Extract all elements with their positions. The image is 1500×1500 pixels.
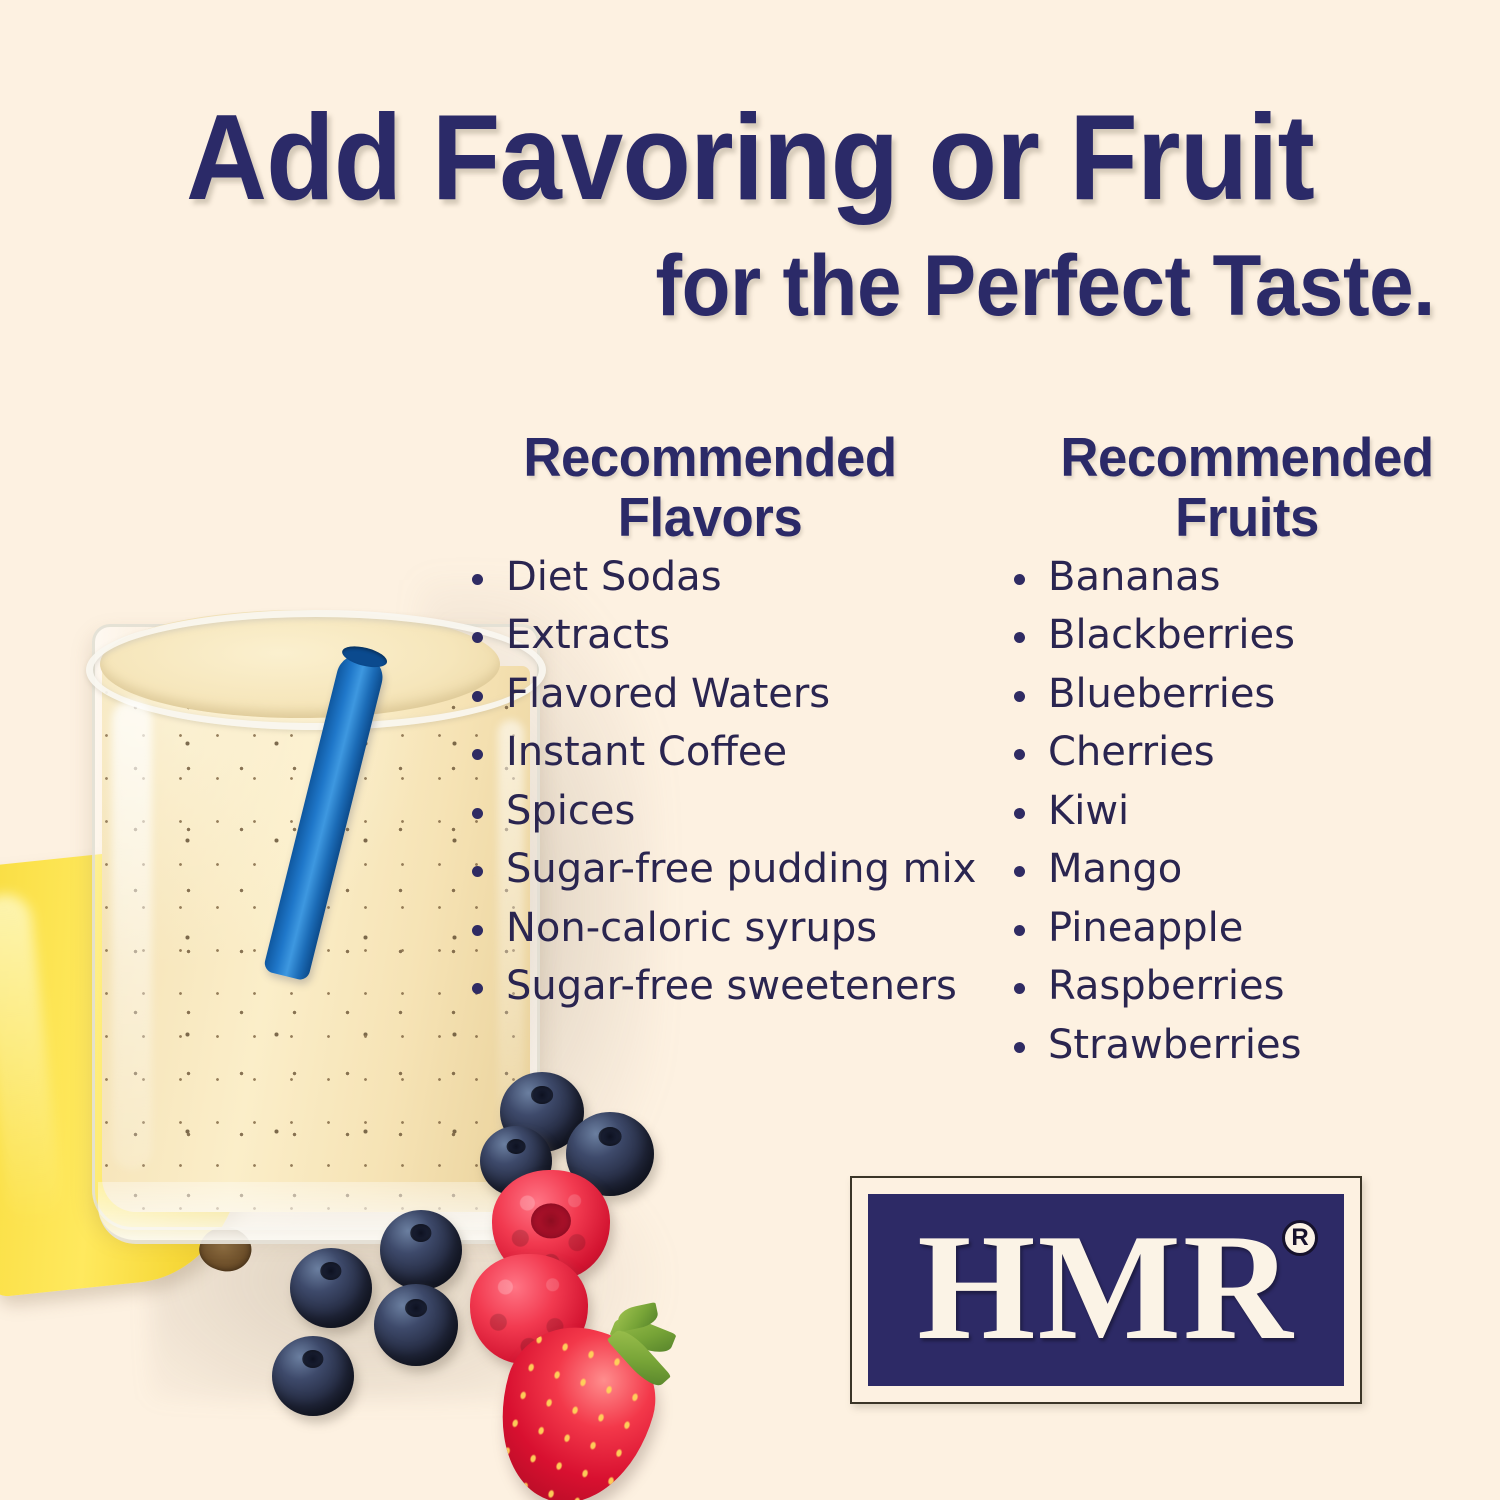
registered-trademark-icon: R bbox=[1282, 1220, 1318, 1256]
list-item: Flavored Waters bbox=[470, 665, 950, 724]
list-item-label: Mango bbox=[1048, 846, 1182, 892]
page-title-line1: Add Favoring or Fruit bbox=[60, 96, 1440, 218]
flavors-list: Diet Sodas Extracts Flavored Waters Inst… bbox=[470, 548, 950, 1016]
hmr-logo-text: HMR bbox=[868, 1211, 1344, 1363]
list-item: Spices bbox=[470, 782, 950, 841]
recommended-flavors-heading: Recommended Flavors bbox=[480, 428, 941, 548]
hmr-logo-plate: HMR R bbox=[868, 1194, 1344, 1386]
blueberry-image bbox=[374, 1284, 458, 1366]
bullet-icon bbox=[472, 808, 483, 819]
list-item: Mango bbox=[1012, 840, 1482, 899]
list-item: Bananas bbox=[1012, 548, 1482, 607]
poster-canvas: Add Favoring or Fruit for the Perfect Ta… bbox=[0, 0, 1500, 1500]
list-item-label: Flavored Waters bbox=[506, 671, 830, 717]
list-item-label: Raspberries bbox=[1048, 963, 1284, 1009]
list-item: Extracts bbox=[470, 606, 950, 665]
glass-highlight-left bbox=[112, 700, 152, 1170]
list-item-label: Bananas bbox=[1048, 554, 1221, 600]
list-item: Sugar-free sweeteners bbox=[470, 957, 950, 1016]
bullet-icon bbox=[472, 749, 483, 760]
bullet-icon bbox=[1014, 574, 1025, 585]
blueberry-crown bbox=[531, 1086, 553, 1104]
list-item-label: Diet Sodas bbox=[506, 554, 722, 600]
list-item: Non-caloric syrups bbox=[470, 899, 950, 958]
bullet-icon bbox=[472, 925, 483, 936]
recommended-flavors-column: Recommended Flavors Diet Sodas Extracts … bbox=[470, 428, 950, 1016]
bullet-icon bbox=[472, 983, 483, 994]
blueberry-crown bbox=[599, 1127, 622, 1145]
bullet-icon bbox=[472, 866, 483, 877]
list-item-label: Strawberries bbox=[1048, 1022, 1302, 1068]
bullet-icon bbox=[1014, 808, 1025, 819]
list-item-label: Sugar-free pudding mix bbox=[506, 846, 976, 892]
hmr-logo: HMR R bbox=[850, 1176, 1362, 1404]
bullet-icon bbox=[1014, 866, 1025, 877]
list-item: Instant Coffee bbox=[470, 723, 950, 782]
list-item: Raspberries bbox=[1012, 957, 1482, 1016]
list-item-label: Spices bbox=[506, 788, 635, 834]
raspberry-core bbox=[531, 1203, 571, 1238]
recommended-fruits-column: Recommended Fruits Bananas Blackberries … bbox=[1012, 428, 1482, 1074]
fruits-list: Bananas Blackberries Blueberries Cherrie… bbox=[1012, 548, 1482, 1075]
blueberry-image bbox=[380, 1210, 462, 1290]
list-item-label: Extracts bbox=[506, 612, 670, 658]
bullet-icon bbox=[1014, 925, 1025, 936]
blueberry-image bbox=[272, 1336, 354, 1416]
list-item-label: Cherries bbox=[1048, 729, 1215, 775]
recommended-fruits-heading: Recommended Fruits bbox=[1021, 428, 1472, 548]
list-item: Cherries bbox=[1012, 723, 1482, 782]
bullet-icon bbox=[1014, 1042, 1025, 1053]
list-item-label: Blackberries bbox=[1048, 612, 1295, 658]
list-item-label: Sugar-free sweeteners bbox=[506, 963, 957, 1009]
banana-highlight bbox=[0, 892, 63, 1226]
bullet-icon bbox=[472, 691, 483, 702]
list-item: Strawberries bbox=[1012, 1016, 1482, 1075]
blueberry-crown bbox=[410, 1224, 431, 1242]
list-item: Pineapple bbox=[1012, 899, 1482, 958]
bullet-icon bbox=[472, 632, 483, 643]
blueberry-image bbox=[290, 1248, 372, 1328]
list-item-label: Pineapple bbox=[1048, 905, 1243, 951]
blueberry-crown bbox=[507, 1139, 526, 1154]
blueberry-crown bbox=[405, 1299, 427, 1317]
list-item: Sugar-free pudding mix bbox=[470, 840, 950, 899]
bullet-icon bbox=[1014, 749, 1025, 760]
bullet-icon bbox=[472, 574, 483, 585]
list-item-label: Instant Coffee bbox=[506, 729, 787, 775]
bullet-icon bbox=[1014, 983, 1025, 994]
page-title-line2: for the Perfect Taste. bbox=[105, 243, 1500, 329]
list-item: Kiwi bbox=[1012, 782, 1482, 841]
bullet-icon bbox=[1014, 691, 1025, 702]
blueberry-crown bbox=[302, 1350, 323, 1368]
list-item-label: Kiwi bbox=[1048, 788, 1129, 834]
list-item-label: Non-caloric syrups bbox=[506, 905, 877, 951]
list-item: Diet Sodas bbox=[470, 548, 950, 607]
list-item: Blueberries bbox=[1012, 665, 1482, 724]
glass-base bbox=[98, 1182, 534, 1244]
blueberry-crown bbox=[320, 1262, 341, 1280]
bullet-icon bbox=[1014, 632, 1025, 643]
list-item: Blackberries bbox=[1012, 606, 1482, 665]
list-item-label: Blueberries bbox=[1048, 671, 1275, 717]
